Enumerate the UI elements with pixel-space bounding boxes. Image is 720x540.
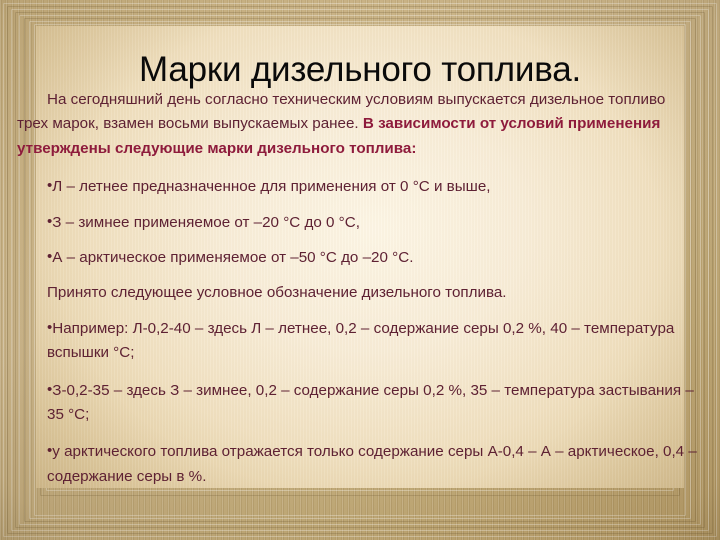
bullet-text: З-0,2-35 – здесь З – зимнее, 0,2 – содер… xyxy=(17,379,705,428)
bullet-text: Л – летнее предназначенное для применени… xyxy=(17,175,491,199)
slide-body: На сегодняшний день согласно техническим… xyxy=(17,88,705,489)
list-item-example-summer: Например: Л-0,2-40 – здесь Л – летнее, 0… xyxy=(17,317,705,366)
slide-title: Марки дизельного топлива. xyxy=(0,49,720,91)
list-item-grade-summer: Л – летнее предназначенное для применени… xyxy=(17,175,705,199)
note-paragraph: Принято следующее условное обозначение д… xyxy=(17,281,705,305)
bullet-text: А – арктическое применяемое от –50 °С до… xyxy=(17,246,413,270)
list-item-example-arctic: у арктического топлива отражается только… xyxy=(17,440,705,489)
slide-content: Марки дизельного топлива. На сегодняшний… xyxy=(0,0,720,540)
bullet-text: у арктического топлива отражается только… xyxy=(17,440,705,489)
bullet-text: Например: Л-0,2-40 – здесь Л – летнее, 0… xyxy=(17,317,705,366)
list-item-grade-arctic: А – арктическое применяемое от –50 °С до… xyxy=(17,246,705,270)
list-item-example-winter: З-0,2-35 – здесь З – зимнее, 0,2 – содер… xyxy=(17,379,705,428)
lead-paragraph: На сегодняшний день согласно техническим… xyxy=(17,88,705,161)
slide: Марки дизельного топлива. На сегодняшний… xyxy=(0,0,720,540)
bullet-text: З – зимнее применяемое от –20 °С до 0 °С… xyxy=(17,211,360,235)
list-item-grade-winter: З – зимнее применяемое от –20 °С до 0 °С… xyxy=(17,211,705,235)
